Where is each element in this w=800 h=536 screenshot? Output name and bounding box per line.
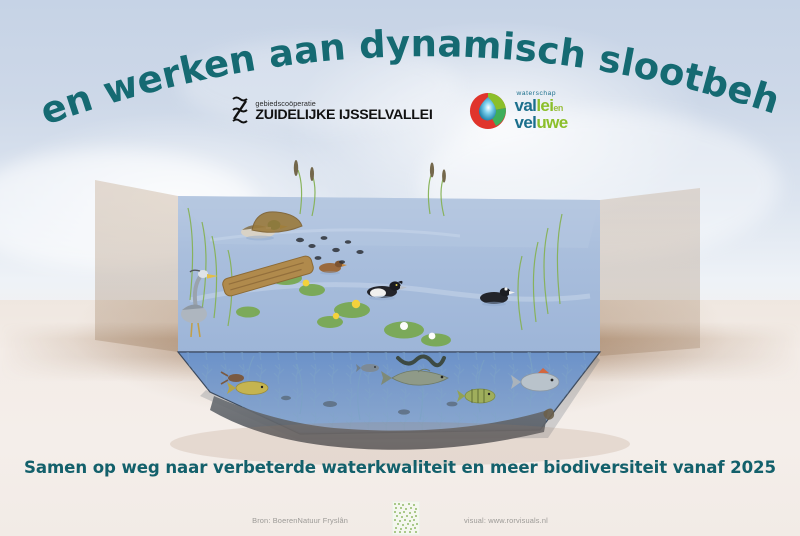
wvv-uwe: uwe (536, 113, 567, 132)
source-credit: Bron: BoerenNatuur Fryslân (252, 516, 348, 525)
logo-zuidelijke-ijsselvallei[interactable]: gebiedscoöperatie ZUIDELIJKE IJSSELVALLE… (232, 96, 432, 126)
logo-vallei-en-veluwe[interactable]: waterschap valleien veluwe (468, 91, 567, 132)
poster-subtitle: Samen op weg naar verbeterde waterkwalit… (0, 458, 800, 477)
z-waves-mark (232, 96, 248, 126)
visual-credit: visual: www.rorvisuals.nl (464, 516, 548, 525)
credits-row: Bron: BoerenNatuur Fryslân visual: www.r… (0, 503, 800, 536)
wvv-vel: vel (514, 113, 536, 132)
logo-row: gebiedscoöperatie ZUIDELIJKE IJSSELVALLE… (0, 84, 800, 138)
wvv-en: en (553, 103, 562, 113)
right-bank (585, 186, 770, 350)
poster-canvas: Samen werken aan dynamisch slootbeheer g… (0, 0, 800, 536)
left-bank (30, 182, 200, 344)
butterfly-icon (44, 249, 59, 261)
zij-tagline: gebiedscoöperatie (255, 100, 432, 107)
qr-code-icon[interactable] (392, 501, 420, 535)
zij-wordmark: ZUIDELIJKE IJSSELVALLEI (255, 108, 432, 122)
wvv-line-one: valleien (514, 97, 567, 114)
wvv-line-two: veluwe (514, 114, 567, 131)
droplet-mark (468, 91, 508, 131)
